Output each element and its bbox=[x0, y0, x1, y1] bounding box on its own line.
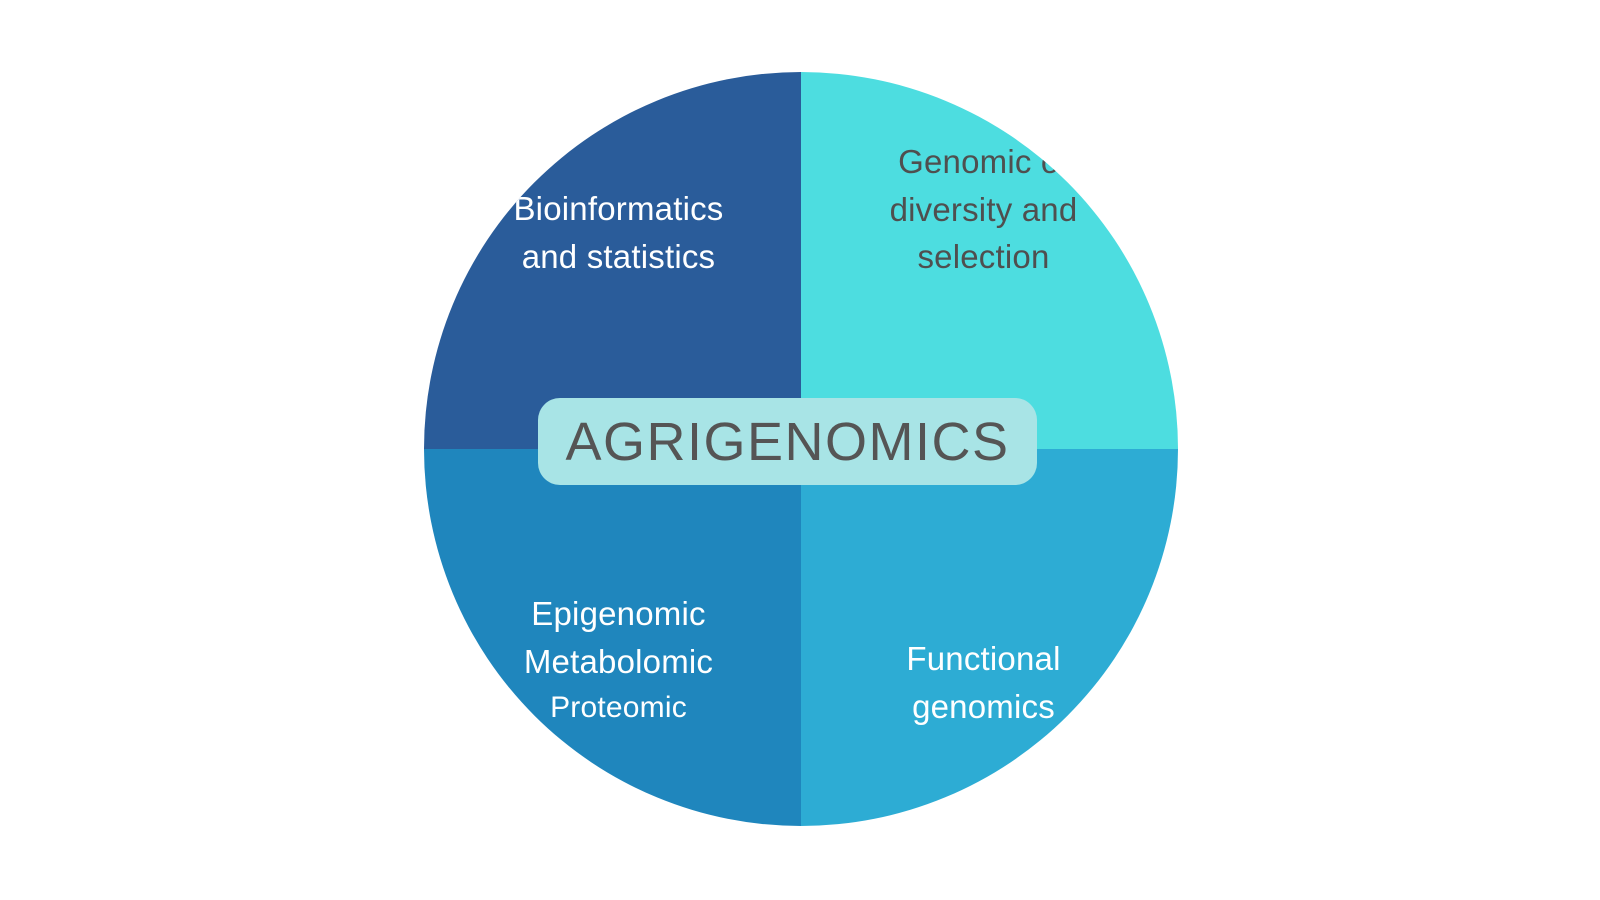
agrigenomics-diagram: Bioinformatics and statistics Genomic of… bbox=[0, 0, 1600, 900]
quadrant-label-bottom-left-main: Epigenomic Metabolomic bbox=[524, 595, 713, 680]
quadrant-label-bottom-right: Functional genomics bbox=[888, 635, 1078, 731]
quadrant-genomic-of-diversity-and-selection[interactable]: Genomic of diversity and selection bbox=[801, 72, 1178, 449]
quadrant-epigenomic-metabolomic-proteomic[interactable]: Epigenomic MetabolomicProteomic bbox=[424, 449, 801, 826]
quadrant-label-bottom-left-sub: Proteomic bbox=[524, 686, 713, 730]
center-label-text: AGRIGENOMICS bbox=[565, 415, 1009, 469]
quadrant-label-bottom-left: Epigenomic MetabolomicProteomic bbox=[506, 542, 731, 777]
quadrant-label-top-right: Genomic of diversity and selection bbox=[872, 138, 1096, 282]
quadrant-bioinformatics-and-statistics[interactable]: Bioinformatics and statistics bbox=[424, 72, 801, 449]
quadrant-functional-genomics[interactable]: Functional genomics bbox=[801, 449, 1178, 826]
center-label-pill[interactable]: AGRIGENOMICS bbox=[538, 398, 1037, 485]
quadrant-label-top-left: Bioinformatics and statistics bbox=[495, 185, 741, 281]
